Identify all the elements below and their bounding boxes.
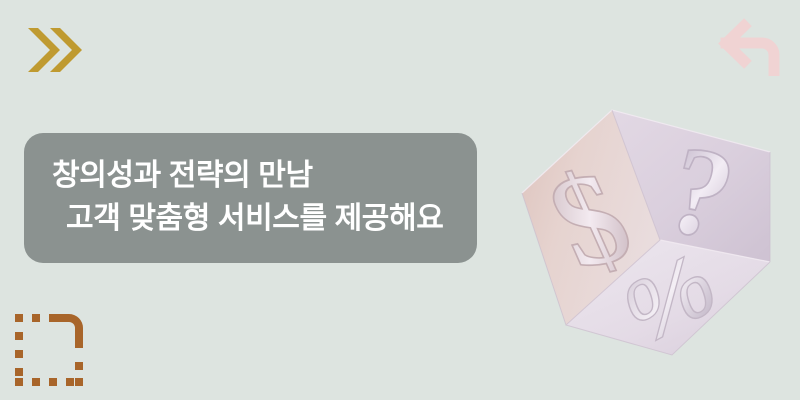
- double-chevron-right-icon: [26, 26, 86, 74]
- 3d-cube-graphic: $ ? %: [498, 92, 798, 368]
- dashed-corner-bracket-icon: [13, 310, 91, 390]
- banner-canvas: 창의성과 전략의 만남 고객 맞춤형 서비스를 제공해요: [0, 0, 800, 400]
- headline-plate: 창의성과 전략의 만남 고객 맞춤형 서비스를 제공해요: [24, 133, 477, 263]
- reply-arrow-icon: [718, 18, 782, 76]
- headline-line-2: 고객 맞춤형 서비스를 제공해요: [52, 198, 451, 241]
- headline-line-1: 창의성과 전략의 만남: [52, 155, 451, 198]
